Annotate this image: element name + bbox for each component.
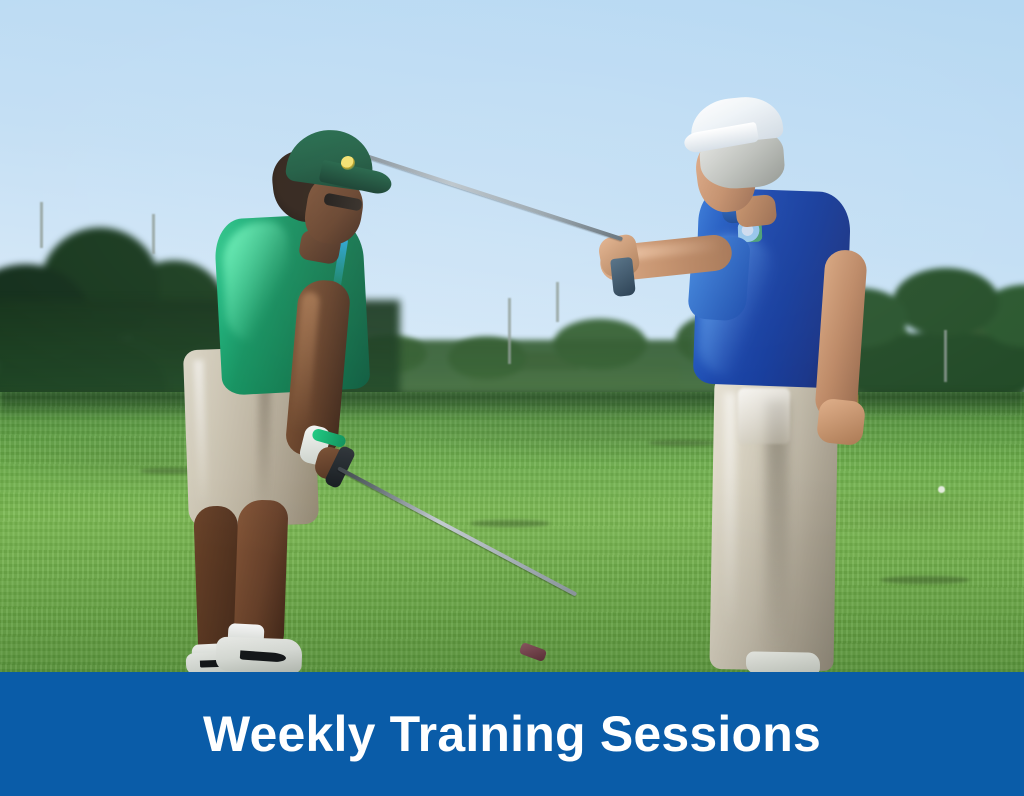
caption-banner: Weekly Training Sessions: [0, 672, 1024, 796]
banner-title: Weekly Training Sessions: [203, 709, 821, 759]
student-figure: [0, 0, 1024, 672]
promo-card: Weekly Training Sessions: [0, 0, 1024, 796]
student-shirt-highlight: [221, 220, 293, 343]
photo-area: [0, 0, 1024, 672]
